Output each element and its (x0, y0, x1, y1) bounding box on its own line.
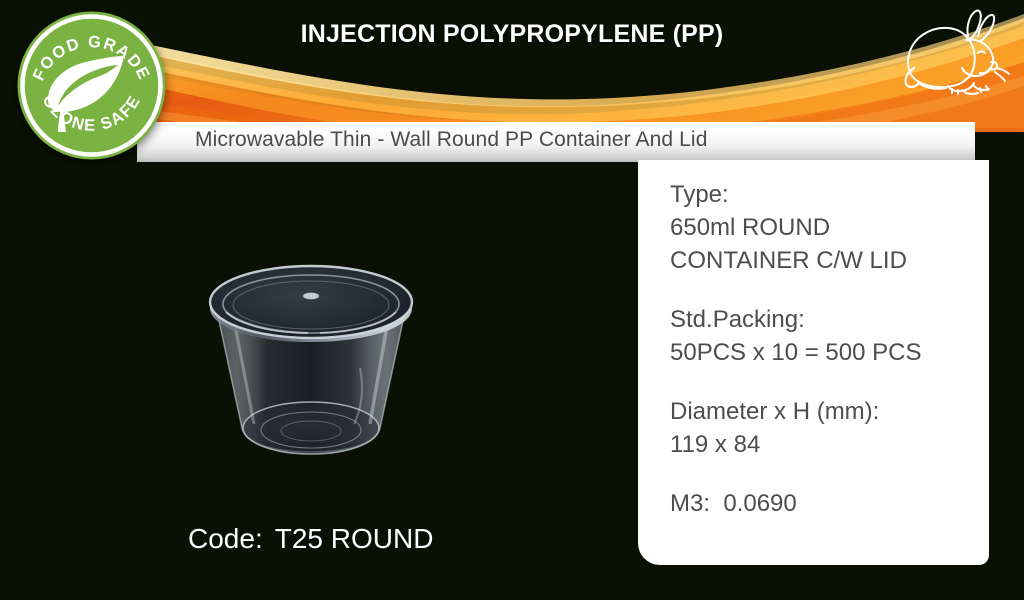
spec-packing-value: 50PCS x 10 = 500 PCS (670, 336, 989, 369)
food-grade-badge: FOOD GRADE OZONE SAFE (14, 8, 169, 163)
spec-type-label: Type: (670, 178, 989, 211)
spec-packing-label: Std.Packing: (670, 303, 989, 336)
spec-dimension-value: 119 x 84 (670, 428, 989, 461)
product-datasheet: INJECTION POLYPROPYLENE (PP) Microwavabl… (0, 0, 1024, 600)
product-code-label: Code: (188, 523, 263, 554)
spec-type-block: Type: 650ml ROUND CONTAINER C/W LID (670, 178, 989, 277)
rabbit-icon (890, 6, 1016, 110)
spec-panel: Type: 650ml ROUND CONTAINER C/W LID Std.… (638, 160, 989, 565)
spec-type-value-line2: CONTAINER C/W LID (670, 244, 989, 277)
product-code-value: T25 ROUND (275, 523, 434, 554)
product-image (196, 258, 426, 470)
spec-dimension-label: Diameter x H (mm): (670, 395, 989, 428)
product-code-line: Code:T25 ROUND (188, 523, 433, 555)
spec-m3-value: M3: 0.0690 (670, 487, 989, 520)
spec-type-value-line1: 650ml ROUND (670, 211, 989, 244)
page-subtitle: Microwavable Thin - Wall Round PP Contai… (195, 128, 707, 152)
spec-m3-block: M3: 0.0690 (670, 487, 989, 520)
spec-dimension-block: Diameter x H (mm): 119 x 84 (670, 395, 989, 461)
spec-packing-block: Std.Packing: 50PCS x 10 = 500 PCS (670, 303, 989, 369)
